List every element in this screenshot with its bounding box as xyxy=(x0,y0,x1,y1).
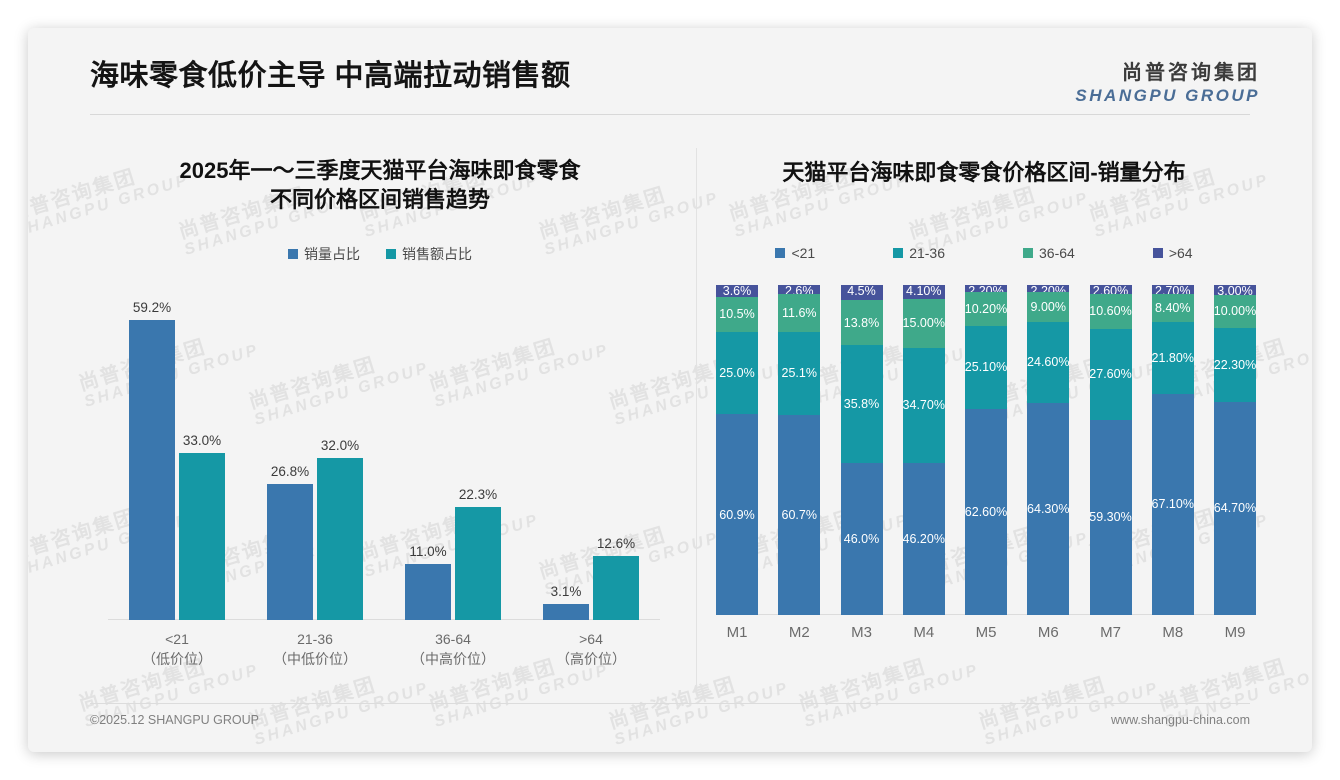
bar-value-label: 3.1% xyxy=(551,584,582,599)
left-chart-title-line1: 2025年一～三季度天猫平台海味即食零食 xyxy=(90,156,670,185)
x-tick-label-21-36: 21-36（中低价位） xyxy=(265,629,365,670)
stacked-bar-clip: 2.60%10.60%27.60%59.30% xyxy=(1090,285,1132,615)
stack-segment->64-M3[interactable]: 4.5% xyxy=(841,285,883,300)
stack-segment->64-M2[interactable]: 2.6% xyxy=(778,285,820,294)
left-chart-title: 2025年一～三季度天猫平台海味即食零食 不同价格区间销售趋势 xyxy=(90,156,670,214)
stack-segment-<21-M2[interactable]: 60.7% xyxy=(778,415,820,615)
stack-segment-label: 25.10% xyxy=(965,360,1007,374)
stack-segment->64-M9[interactable]: 3.00% xyxy=(1214,285,1256,295)
stack-segment-label: 4.5% xyxy=(847,285,876,298)
stack-segment-36-64-M2[interactable]: 11.6% xyxy=(778,294,820,332)
stacked-bar-M7[interactable]: 2.60%10.60%27.60%59.30% xyxy=(1090,285,1132,615)
stacked-bar-M3[interactable]: 4.5%13.8%35.8%46.0% xyxy=(841,285,883,615)
stack-segment-label: 62.60% xyxy=(965,505,1007,519)
stack-segment-label: 21.80% xyxy=(1152,351,1194,365)
stack-segment-label: 35.8% xyxy=(844,397,879,411)
stacked-bar-clip: 2.70%8.40%21.80%67.10% xyxy=(1152,285,1194,615)
stack-segment-21-36-M7[interactable]: 27.60% xyxy=(1090,329,1132,420)
stack-segment-36-64-M6[interactable]: 9.00% xyxy=(1027,292,1069,322)
stacked-bar-clip: 3.6%10.5%25.0%60.9% xyxy=(716,285,758,615)
stack-segment-21-36-M3[interactable]: 35.8% xyxy=(841,345,883,463)
stacked-bar-M1[interactable]: 3.6%10.5%25.0%60.9% xyxy=(716,285,758,615)
bar-group-36-64: 11.0%22.3% xyxy=(405,290,501,620)
bar-value-label: 22.3% xyxy=(459,487,497,502)
legend-label: >64 xyxy=(1169,245,1193,261)
stack-segment-label: 10.60% xyxy=(1090,304,1132,318)
bar-销量占比-<21[interactable]: 59.2% xyxy=(129,320,175,621)
bar-group-21-36: 26.8%32.0% xyxy=(267,290,363,620)
stack-segment-<21-M1[interactable]: 60.9% xyxy=(716,414,758,615)
x-tick-label-M3: M3 xyxy=(841,624,883,641)
legend-swatch-icon xyxy=(775,248,785,258)
brand-name-cn: 尚普咨询集团 xyxy=(1075,56,1260,85)
bar-fill xyxy=(129,320,175,621)
legend-swatch-icon xyxy=(386,249,396,259)
stacked-bar-M8[interactable]: 2.70%8.40%21.80%67.10% xyxy=(1152,285,1194,615)
stack-segment-label: 22.30% xyxy=(1214,358,1256,372)
bar-value-label: 32.0% xyxy=(321,438,359,453)
bar-fill xyxy=(543,604,589,620)
x-tick-main: <21 xyxy=(127,629,227,649)
bar-销量占比->64[interactable]: 3.1% xyxy=(543,604,589,620)
stack-segment->64-M8[interactable]: 2.70% xyxy=(1152,285,1194,294)
stack-segment-<21-M9[interactable]: 64.70% xyxy=(1214,402,1256,616)
left-chart-legend: 销量占比销售额占比 xyxy=(90,244,670,264)
footer-divider xyxy=(90,703,1250,704)
stack-segment-36-64-M3[interactable]: 13.8% xyxy=(841,300,883,345)
stacked-bar-clip: 4.5%13.8%35.8%46.0% xyxy=(841,285,883,615)
left-chart-title-line2: 不同价格区间销售趋势 xyxy=(90,185,670,214)
bar-销量占比-36-64[interactable]: 11.0% xyxy=(405,564,451,620)
x-tick-label-<21: <21（低价位） xyxy=(127,629,227,670)
stack-segment-36-64-M9[interactable]: 10.00% xyxy=(1214,295,1256,328)
stack-segment-label: 64.30% xyxy=(1027,502,1069,516)
stack-segment->64-M7[interactable]: 2.60% xyxy=(1090,285,1132,294)
bar-value-label: 26.8% xyxy=(271,464,309,479)
stack-segment-label: 9.00% xyxy=(1031,300,1066,314)
stacked-bar-M9[interactable]: 3.00%10.00%22.30%64.70% xyxy=(1214,285,1256,615)
bar-fill xyxy=(405,564,451,620)
left-chart-category-labels: <21（低价位）21-36（中低价位）36-64（中高价位）>64（高价位） xyxy=(108,629,660,670)
legend-item-销量占比[interactable]: 销量占比 xyxy=(288,244,360,264)
bar-销售额占比-36-64[interactable]: 22.3% xyxy=(455,507,501,620)
bar-销售额占比-21-36[interactable]: 32.0% xyxy=(317,458,363,620)
stack-segment-21-36-M5[interactable]: 25.10% xyxy=(965,326,1007,409)
left-chart-plot: 59.2%33.0%26.8%32.0%11.0%22.3%3.1%12.6% xyxy=(108,290,660,620)
legend-label: 36-64 xyxy=(1039,245,1075,261)
stack-segment-label: 10.5% xyxy=(719,307,754,321)
stack-segment-label: 59.30% xyxy=(1090,510,1132,524)
stack-segment->64-M5[interactable]: 2.20% xyxy=(965,285,1007,292)
stack-segment-label: 15.00% xyxy=(903,316,945,330)
legend-swatch-icon xyxy=(1023,248,1033,258)
legend-label: 销售额占比 xyxy=(402,244,472,264)
stack-segment-label: 25.0% xyxy=(719,366,754,380)
stacked-bar-M4[interactable]: 4.10%15.00%34.70%46.20% xyxy=(903,285,945,615)
slide-canvas: 尚普咨询集团SHANGPU GROUP尚普咨询集团SHANGPU GROUP尚普… xyxy=(28,28,1312,752)
stack-segment-21-36-M9[interactable]: 22.30% xyxy=(1214,328,1256,402)
stack-segment-label: 60.7% xyxy=(782,508,817,522)
x-tick-label-M1: M1 xyxy=(716,624,758,641)
x-tick-sub: （低价位） xyxy=(127,649,227,669)
slide-footer: ©2025.12 SHANGPU GROUP www.shangpu-china… xyxy=(90,710,1250,730)
legend-swatch-icon xyxy=(893,248,903,258)
x-tick-sub: （高价位） xyxy=(541,649,641,669)
footer-copyright: ©2025.12 SHANGPU GROUP xyxy=(90,713,259,727)
right-chart-category-labels: M1M2M3M4M5M6M7M8M9 xyxy=(716,624,1256,641)
chart-panel-right: 天猫平台海味即食零食价格区间-销量分布 <2121-3636-64>64 3.6… xyxy=(704,138,1264,708)
stack-segment-label: 10.00% xyxy=(1214,304,1256,318)
x-tick-main: >64 xyxy=(541,629,641,649)
stack-segment-36-64-M7[interactable]: 10.60% xyxy=(1090,294,1132,329)
stack-segment-label: 60.9% xyxy=(719,508,754,522)
brand-logo: 尚普咨询集团 SHANGPU GROUP xyxy=(1075,56,1260,106)
stack-segment-36-64-M8[interactable]: 8.40% xyxy=(1152,294,1194,322)
stacked-bar-M2[interactable]: 2.6%11.6%25.1%60.7% xyxy=(778,285,820,615)
bar-销量占比-21-36[interactable]: 26.8% xyxy=(267,484,313,620)
stack-segment-<21-M4[interactable]: 46.20% xyxy=(903,463,945,615)
footer-website[interactable]: www.shangpu-china.com xyxy=(1111,713,1250,727)
bar-fill xyxy=(593,556,639,620)
stack-segment-21-36-M1[interactable]: 25.0% xyxy=(716,332,758,415)
bar-value-label: 11.0% xyxy=(409,544,446,559)
stack-segment-label: 4.10% xyxy=(906,285,941,298)
bar-value-label: 33.0% xyxy=(183,433,221,448)
stacked-bar-clip: 4.10%15.00%34.70%46.20% xyxy=(903,285,945,615)
x-tick-label-M4: M4 xyxy=(903,624,945,641)
x-tick-label-M6: M6 xyxy=(1027,624,1069,641)
stack-segment-<21-M5[interactable]: 62.60% xyxy=(965,409,1007,615)
bar-fill xyxy=(179,453,225,621)
stack-segment-<21-M3[interactable]: 46.0% xyxy=(841,463,883,615)
stack-segment-label: 10.20% xyxy=(965,302,1007,316)
stack-segment-label: 34.70% xyxy=(903,398,945,412)
right-chart-legend: <2121-3636-64>64 xyxy=(704,245,1264,261)
x-tick-label-M9: M9 xyxy=(1214,624,1256,641)
stack-segment-label: 11.6% xyxy=(782,306,817,320)
stack-segment-label: 8.40% xyxy=(1155,301,1190,315)
stack-segment-label: 67.10% xyxy=(1152,497,1194,511)
legend-label: 21-36 xyxy=(909,245,945,261)
stack-segment-<21-M8[interactable]: 67.10% xyxy=(1152,394,1194,615)
legend-item-销售额占比[interactable]: 销售额占比 xyxy=(386,244,472,264)
stack-segment-label: 64.70% xyxy=(1214,501,1256,515)
stack-segment-label: 25.1% xyxy=(782,366,817,380)
x-tick-label-M7: M7 xyxy=(1090,624,1132,641)
legend-label: <21 xyxy=(791,245,815,261)
bar-fill xyxy=(267,484,313,620)
bar-group-<21: 59.2%33.0% xyxy=(129,290,225,620)
stack-segment-label: 46.20% xyxy=(903,532,945,546)
legend-item-<21[interactable]: <21 xyxy=(775,245,815,261)
stack-segment-label: 24.60% xyxy=(1027,355,1069,369)
legend-item-36-64[interactable]: 36-64 xyxy=(1023,245,1075,261)
stacked-bar-M6[interactable]: 2.20%9.00%24.60%64.30% xyxy=(1027,285,1069,615)
stack-segment-label: 27.60% xyxy=(1090,367,1132,381)
panel-divider xyxy=(696,148,697,693)
stack-segment-<21-M6[interactable]: 64.30% xyxy=(1027,403,1069,615)
legend-item-21-36[interactable]: 21-36 xyxy=(893,245,945,261)
slide-header: 海味零食低价主导 中高端拉动销售额 尚普咨询集团 SHANGPU GROUP xyxy=(28,28,1312,120)
chart-panel-left: 2025年一～三季度天猫平台海味即食零食 不同价格区间销售趋势 销量占比销售额占… xyxy=(90,138,670,708)
x-tick-sub: （中高价位） xyxy=(403,649,503,669)
stack-segment-36-64-M5[interactable]: 10.20% xyxy=(965,292,1007,326)
bar-销售额占比->64[interactable]: 12.6% xyxy=(593,556,639,620)
legend-swatch-icon xyxy=(288,249,298,259)
x-tick-sub: （中低价位） xyxy=(265,649,365,669)
bar-fill xyxy=(455,507,501,620)
stacked-bar-clip: 2.6%11.6%25.1%60.7% xyxy=(778,285,820,615)
bar-fill xyxy=(317,458,363,620)
stack-segment-21-36-M6[interactable]: 24.60% xyxy=(1027,322,1069,403)
header-divider xyxy=(90,114,1250,115)
stack-segment->64-M4[interactable]: 4.10% xyxy=(903,285,945,299)
stack-segment-21-36-M8[interactable]: 21.80% xyxy=(1152,322,1194,394)
stack-segment->64-M1[interactable]: 3.6% xyxy=(716,285,758,297)
x-tick-main: 36-64 xyxy=(403,629,503,649)
right-chart-plot: 3.6%10.5%25.0%60.9%2.6%11.6%25.1%60.7%4.… xyxy=(716,285,1256,615)
legend-swatch-icon xyxy=(1153,248,1163,258)
x-tick-label-M8: M8 xyxy=(1152,624,1194,641)
stacked-bar-clip: 3.00%10.00%22.30%64.70% xyxy=(1214,285,1256,615)
stacked-bar-clip: 2.20%10.20%25.10%62.60% xyxy=(965,285,1007,615)
bar-value-label: 59.2% xyxy=(133,300,171,315)
x-tick-label-36-64: 36-64（中高价位） xyxy=(403,629,503,670)
x-tick-label-M2: M2 xyxy=(778,624,820,641)
x-tick-label-M5: M5 xyxy=(965,624,1007,641)
stack-segment->64-M6[interactable]: 2.20% xyxy=(1027,285,1069,292)
stack-segment-<21-M7[interactable]: 59.30% xyxy=(1090,420,1132,616)
x-tick-main: 21-36 xyxy=(265,629,365,649)
stack-segment-21-36-M4[interactable]: 34.70% xyxy=(903,348,945,463)
stack-segment-36-64-M1[interactable]: 10.5% xyxy=(716,297,758,332)
bar-group->64: 3.1%12.6% xyxy=(543,290,639,620)
stack-segment-36-64-M4[interactable]: 15.00% xyxy=(903,299,945,349)
bar-销售额占比-<21[interactable]: 33.0% xyxy=(179,453,225,621)
bar-value-label: 12.6% xyxy=(597,536,635,551)
legend-label: 销量占比 xyxy=(304,244,360,264)
page-title: 海味零食低价主导 中高端拉动销售额 xyxy=(90,52,571,94)
brand-name-en: SHANGPU GROUP xyxy=(1075,86,1260,106)
x-tick-label->64: >64（高价位） xyxy=(541,629,641,670)
stack-segment-21-36-M2[interactable]: 25.1% xyxy=(778,332,820,415)
stacked-bar-M5[interactable]: 2.20%10.20%25.10%62.60% xyxy=(965,285,1007,615)
stacked-bar-clip: 2.20%9.00%24.60%64.30% xyxy=(1027,285,1069,615)
stack-segment-label: 13.8% xyxy=(844,316,879,330)
legend-item->64[interactable]: >64 xyxy=(1153,245,1193,261)
right-chart-title: 天猫平台海味即食零食价格区间-销量分布 xyxy=(704,158,1264,187)
stack-segment-label: 46.0% xyxy=(844,532,879,546)
